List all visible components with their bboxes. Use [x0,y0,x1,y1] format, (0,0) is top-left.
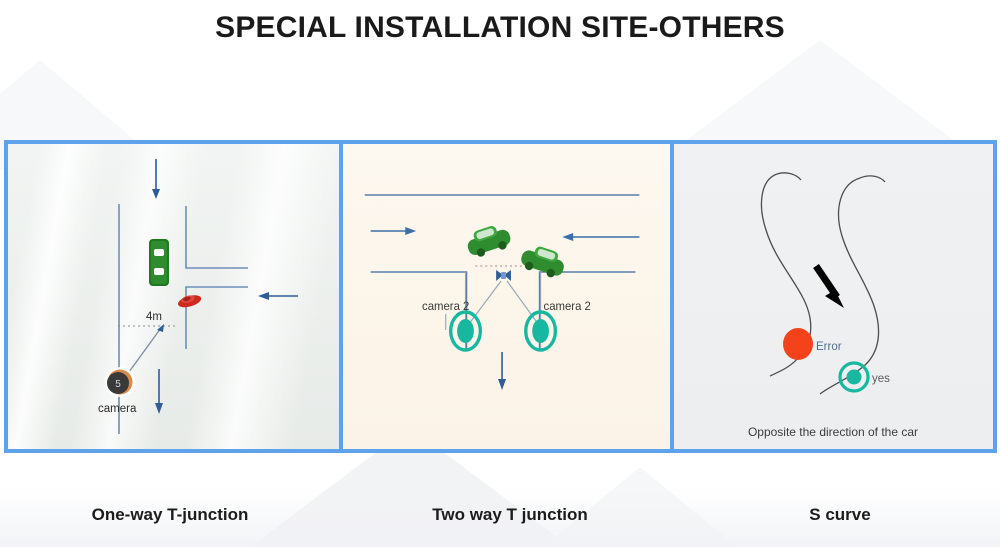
arrow-right-left-lane [371,227,416,235]
yes-label: yes [872,373,890,385]
green-vehicle-left-icon [464,221,513,260]
error-dot-marker[interactable] [783,328,813,360]
arrow-left-right-lane [562,233,639,241]
arrow-down-bottom [155,369,163,414]
s-curve-right-cap [860,176,885,182]
green-vehicle-right-icon [518,242,567,281]
diagram-panel-strip: 5 4m camera [4,140,997,453]
error-label: Error [816,341,842,353]
direction-arrow-icon [816,266,844,308]
camera-dome-icon[interactable]: 5 [105,367,135,397]
sensor-sight-line-left [467,281,501,326]
panel-s-curve[interactable]: Error yes Opposite the direction of the … [670,144,993,449]
page-title: SPECIAL INSTALLATION SITE-OTHERS [0,11,1000,45]
one-way-t-junction-scene: 5 4m camera [8,144,339,449]
arrow-down-top [152,159,160,199]
panel-captions: One-way T-junction Two way T junction S … [0,505,1000,547]
camera-left-label: camera 2 [422,301,469,313]
panel-one-way-t-junction[interactable]: 5 4m camera [8,144,339,449]
camera-label: camera [98,403,137,415]
panel-two-way-t-junction[interactable]: camera 2 camera 2 [339,144,670,449]
caption-two-way-t-junction: Two way T junction [340,505,680,547]
sensor-sight-line-right [507,281,540,326]
arrow-down-bottom [498,352,506,390]
green-vehicle-icon [149,239,169,286]
yes-target-marker[interactable] [840,363,868,391]
s-curve-left-cap [777,173,801,180]
bowtie-sensor-icon[interactable] [496,270,511,281]
s-curve-note: Opposite the direction of the car [748,425,918,439]
camera-right-label: camera 2 [544,301,591,313]
camera-sight-line [126,328,161,376]
road-upper-branch [186,206,248,268]
red-car-icon [176,292,202,309]
caption-one-way-t-junction: One-way T-junction [0,505,340,547]
arrow-left-right-side [258,292,298,300]
s-curve-scene: Error yes Opposite the direction of the … [674,144,993,449]
two-way-t-junction-scene: camera 2 camera 2 [343,144,670,449]
camera-sight-arrowhead [157,324,164,332]
distance-label: 4m [146,311,162,323]
svg-text:5: 5 [115,379,121,390]
caption-s-curve: S curve [680,505,1000,547]
